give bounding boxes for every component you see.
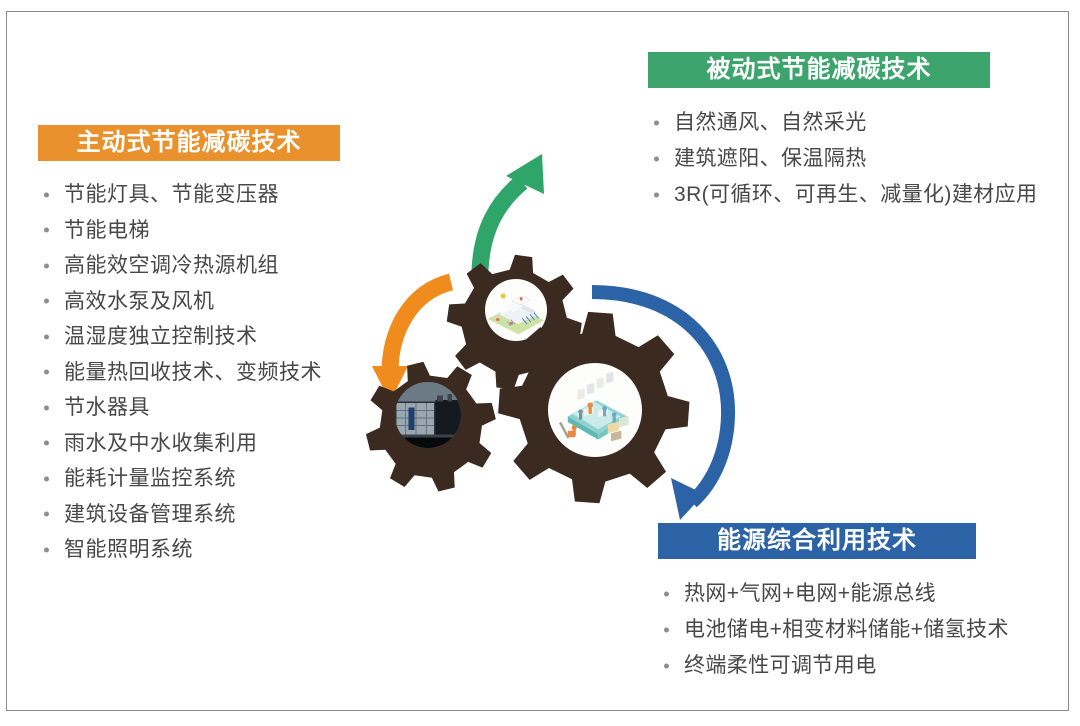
list-item: 高效水泵及风机 [38, 284, 340, 320]
list-item-label: 热网+气网+电网+能源总线 [684, 582, 936, 605]
list-item-label: 建筑遮阳、保温隔热 [674, 147, 867, 170]
section-passive-technologies: 被动式节能减碳技术 自然通风、自然采光 建筑遮阳、保温隔热 3R(可循环、可再生… [648, 52, 1037, 213]
bullet-list-passive: 自然通风、自然采光 建筑遮阳、保温隔热 3R(可循环、可再生、减量化)建材应用 [648, 105, 1037, 213]
list-item: 终端柔性可调节用电 [658, 648, 1009, 684]
bullet-dot-icon [44, 263, 49, 268]
list-item: 3R(可循环、可再生、减量化)建材应用 [648, 177, 1037, 213]
list-item-label: 能量热回收技术、变频技术 [64, 361, 322, 384]
list-item: 智能照明系统 [38, 532, 340, 568]
list-item-label: 终端柔性可调节用电 [684, 654, 877, 677]
list-item: 温湿度独立控制技术 [38, 319, 340, 355]
list-item: 热网+气网+电网+能源总线 [658, 576, 1009, 612]
list-item-label: 3R(可循环、可再生、减量化)建材应用 [674, 183, 1037, 206]
bullet-dot-icon [664, 628, 669, 633]
list-item: 电池储电+相变材料储能+储氢技术 [658, 612, 1009, 648]
bullet-dot-icon [44, 441, 49, 446]
list-item: 能量热回收技术、变频技术 [38, 355, 340, 391]
list-item: 节水器具 [38, 390, 340, 426]
list-item-label: 高效水泵及风机 [64, 290, 215, 313]
bullet-list-active: 节能灯具、节能变压器 节能电梯 高能效空调冷热源机组 高效水泵及风机 温湿度独立… [38, 177, 340, 568]
list-item-label: 建筑设备管理系统 [64, 503, 236, 526]
bullet-dot-icon [44, 476, 49, 481]
section-header-active: 主动式节能减碳技术 [38, 125, 340, 161]
bullet-dot-icon [664, 664, 669, 669]
list-item-label: 节水器具 [64, 396, 150, 419]
list-item: 建筑设备管理系统 [38, 497, 340, 533]
bullet-dot-icon [44, 547, 49, 552]
list-item: 雨水及中水收集利用 [38, 426, 340, 462]
list-item: 能耗计量监控系统 [38, 461, 340, 497]
bullet-dot-icon [654, 121, 659, 126]
section-energy-technologies: 能源综合利用技术 热网+气网+电网+能源总线 电池储电+相变材料储能+储氢技术 … [658, 523, 1009, 684]
bullet-dot-icon [654, 157, 659, 162]
list-item: 节能电梯 [38, 213, 340, 249]
bullet-dot-icon [44, 299, 49, 304]
section-header-energy: 能源综合利用技术 [658, 523, 976, 559]
list-item-label: 自然通风、自然采光 [674, 111, 867, 134]
list-item-label: 雨水及中水收集利用 [64, 432, 258, 455]
list-item-label: 节能电梯 [64, 219, 150, 242]
diagram-canvas: 主动式节能减碳技术 节能灯具、节能变压器 节能电梯 高能效空调冷热源机组 高效水… [0, 0, 1080, 726]
list-item-label: 高能效空调冷热源机组 [64, 254, 279, 277]
arrow-green-up [480, 154, 544, 270]
bullet-dot-icon [44, 228, 49, 233]
list-item: 建筑遮阳、保温隔热 [648, 141, 1037, 177]
list-item-label: 节能灯具、节能变压器 [64, 183, 279, 206]
list-item: 节能灯具、节能变压器 [38, 177, 340, 213]
list-item-label: 能耗计量监控系统 [64, 467, 236, 490]
bullet-dot-icon [44, 405, 49, 410]
bullet-list-energy: 热网+气网+电网+能源总线 电池储电+相变材料储能+储氢技术 终端柔性可调节用电 [658, 576, 1009, 684]
section-header-passive: 被动式节能减碳技术 [648, 52, 990, 88]
bullet-dot-icon [664, 592, 669, 597]
section-active-technologies: 主动式节能减碳技术 节能灯具、节能变压器 节能电梯 高能效空调冷热源机组 高效水… [38, 125, 340, 568]
list-item: 自然通风、自然采光 [648, 105, 1037, 141]
list-item: 高能效空调冷热源机组 [38, 248, 340, 284]
list-item-label: 智能照明系统 [64, 538, 193, 561]
bullet-dot-icon [44, 192, 49, 197]
bullet-dot-icon [654, 193, 659, 198]
list-item-label: 电池储电+相变材料储能+储氢技术 [684, 618, 1009, 641]
bullet-dot-icon [44, 334, 49, 339]
bullet-dot-icon [44, 370, 49, 375]
list-item-label: 温湿度独立控制技术 [64, 325, 258, 348]
bullet-dot-icon [44, 512, 49, 517]
